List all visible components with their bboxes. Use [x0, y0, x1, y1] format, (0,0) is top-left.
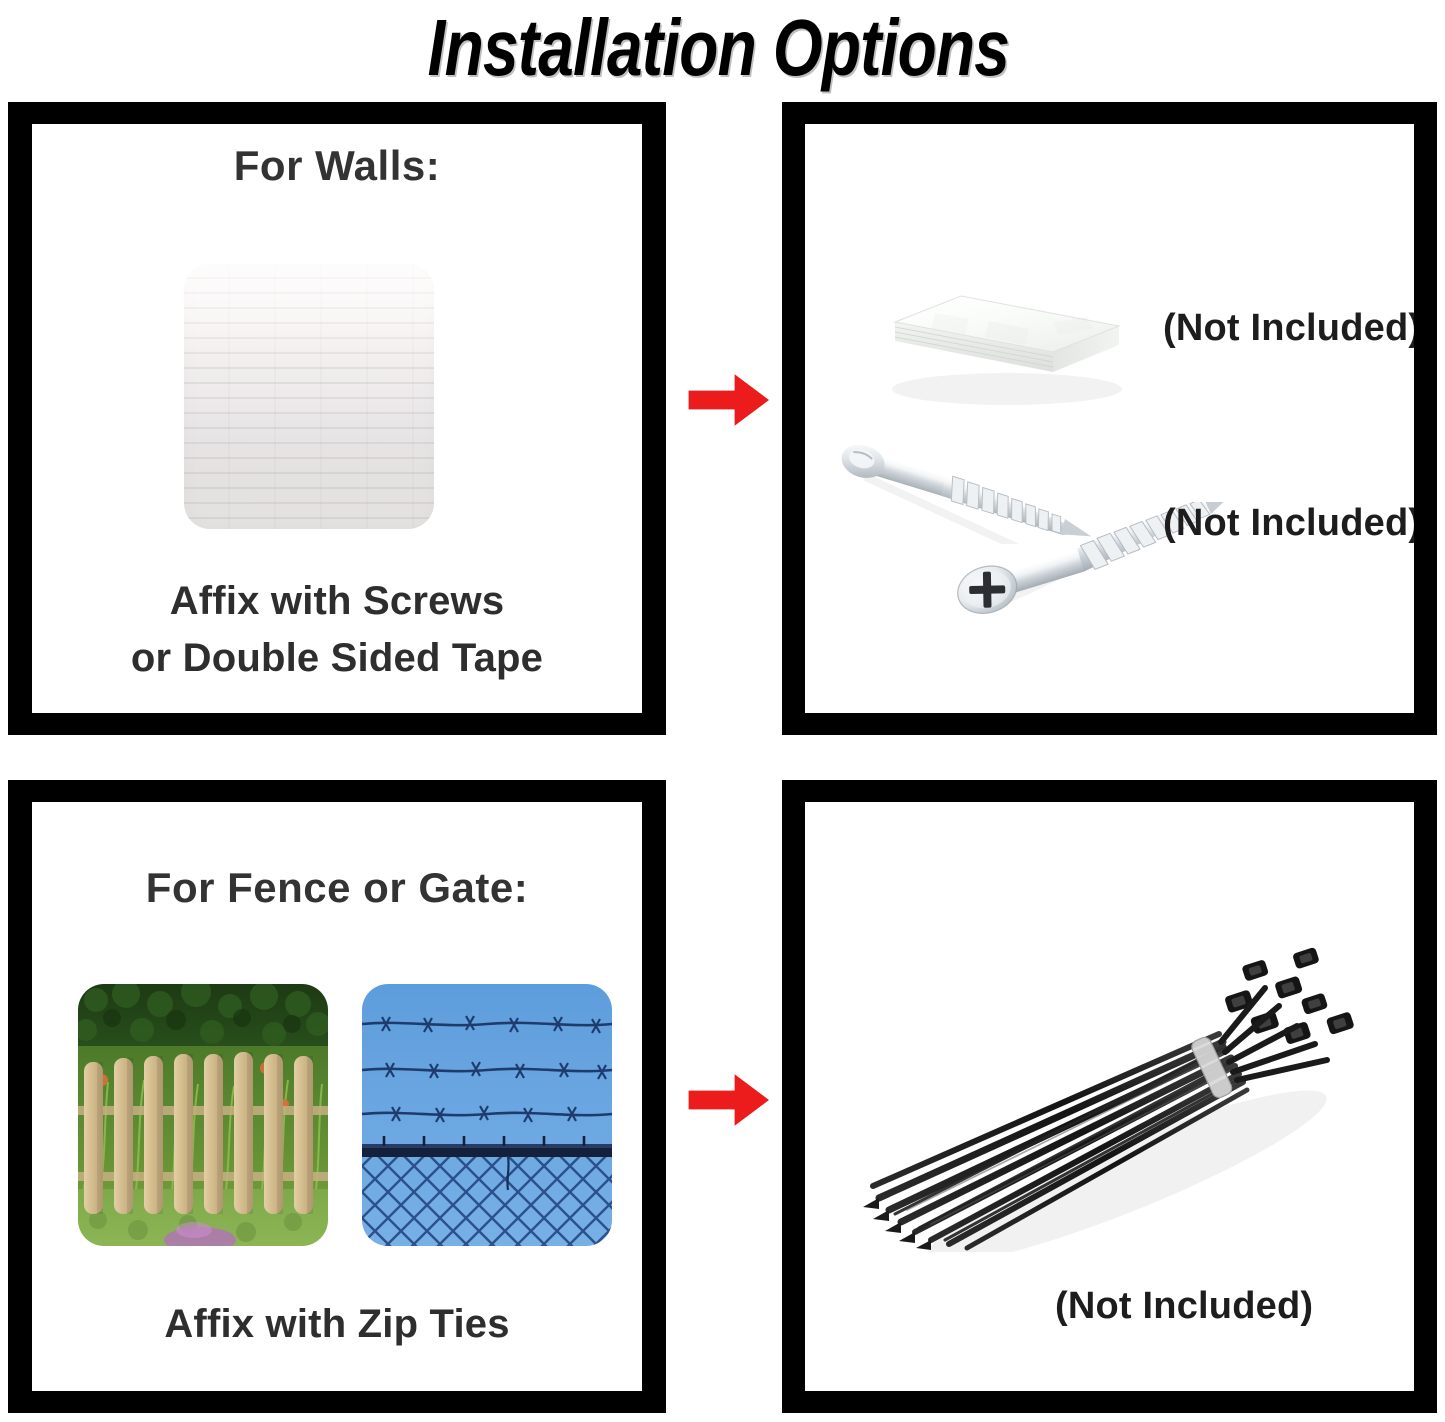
panel-wall-hardware: (Not Included)	[782, 102, 1437, 735]
screws-not-included-label: (Not Included)	[1163, 502, 1414, 545]
for-walls-heading: For Walls:	[32, 142, 642, 190]
tape-not-included-label: (Not Included)	[1163, 307, 1414, 350]
brick-shading-overlay	[184, 264, 434, 529]
double-sided-tape-stack-icon	[857, 229, 1142, 414]
for-walls-caption-line-2: or Double Sided Tape	[32, 636, 642, 681]
black-zip-ties-bundle-icon	[827, 922, 1367, 1252]
for-fence-caption: Affix with Zip Ties	[32, 1302, 642, 1347]
panel-zip-ties: (Not Included)	[782, 780, 1437, 1413]
page-title-bar: Installation Options	[0, 0, 1445, 95]
wooden-picket-fence-photo	[78, 984, 328, 1246]
zipties-not-included-label: (Not Included)	[1055, 1285, 1313, 1328]
panel-for-walls-content: For Walls: Affix with Screws or Double S…	[32, 124, 642, 713]
panel-for-walls: For Walls: Affix with Screws or Double S…	[8, 102, 666, 735]
for-fence-heading: For Fence or Gate:	[32, 864, 642, 912]
for-walls-caption-line-1: Affix with Screws	[32, 579, 642, 624]
panel-for-fence-or-gate-content: For Fence or Gate:	[32, 802, 642, 1391]
red-arrow-right-top	[686, 371, 772, 429]
panel-for-fence-or-gate: For Fence or Gate:	[8, 780, 666, 1413]
panel-wall-hardware-content: (Not Included)	[805, 124, 1414, 713]
page-title: Installation Options	[428, 7, 1017, 89]
chain-link-barbed-wire-photo	[362, 984, 612, 1246]
white-brick-wall-swatch	[184, 264, 434, 529]
red-arrow-right-bottom	[686, 1071, 772, 1129]
panel-zip-ties-content: (Not Included)	[805, 802, 1414, 1391]
